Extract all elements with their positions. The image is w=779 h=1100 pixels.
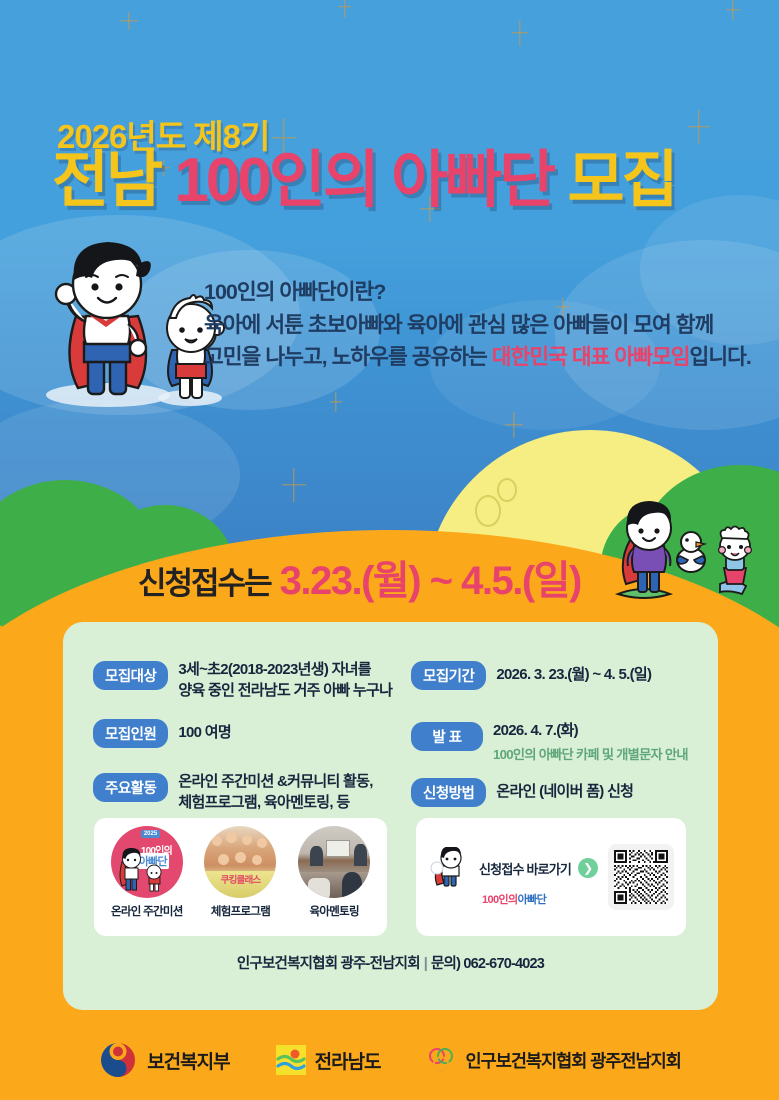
lead-line-3-pre: 고민을 나누고, 노하우를 공유하는 (204, 345, 492, 369)
info-row: 신청방법 온라인 (네이버 폼) 신청 (411, 777, 693, 807)
qr-cta-label: 신청접수 바로가기 (479, 859, 571, 878)
sparkle-icon (688, 110, 710, 144)
announcement-note: 100인의 아빠단 카페 및 개별문자 안내 (493, 746, 688, 764)
thumb-kid-figure (145, 864, 163, 892)
photo-person (257, 838, 267, 848)
info-row: 주요활동 온라인 주간미션 &커뮤니티 활동, 체험프로그램, 육아멘토링, 등 (93, 772, 411, 813)
info-left-column: 모집대상 3세~초2(2018-2023년생) 자녀를 양육 중인 전라남도 거… (93, 660, 411, 831)
title-part-1: 전남 (52, 146, 160, 215)
sparkle-icon (282, 468, 306, 502)
sparkle-icon (512, 20, 528, 46)
contact-inquiry: 문의) 062-670-4023 (431, 956, 544, 972)
photo-person (212, 836, 222, 846)
qr-code[interactable] (608, 844, 674, 910)
date-banner-value: 3.23.(월) ~ 4.5.(일) (280, 548, 581, 606)
logo-ppfk: 인구보건복지협회 광주전남지회 (427, 1045, 681, 1075)
announcement-date: 2026. 4. 7.(화) (493, 722, 578, 739)
lead-line-1: 100인의 아빠단이란? (204, 276, 751, 309)
sparkle-icon (726, 0, 740, 20)
info-text-activities: 온라인 주간미션 &커뮤니티 활동, 체험프로그램, 육아멘토링, 등 (178, 772, 372, 813)
title-part-2: 100인의 아빠단 (174, 146, 553, 215)
thumbnail-item: 2025 100인의 아빠단 (104, 826, 190, 919)
thumbnail-image-parenting-mentoring (298, 826, 370, 898)
photo-whiteboard (326, 840, 350, 857)
logo-label: 인구보건복지협회 광주전남지회 (466, 1048, 681, 1073)
activity-thumbnails: 2025 100인의 아빠단 (94, 818, 387, 936)
thumbnail-caption: 육아멘토링 (291, 903, 377, 919)
photo-person (310, 846, 323, 866)
qr-code-graphic (614, 850, 668, 904)
title-part-3: 모집 (567, 146, 675, 215)
contact-separator: | (424, 956, 427, 972)
lead-line-3: 고민을 나누고, 노하우를 공유하는 대한민국 대표 아빠모임입니다. (204, 341, 751, 374)
info-row: 모집인원 100 여명 (93, 718, 411, 748)
thumbnail-image-experience-program: 쿠킹클래스 (204, 826, 276, 898)
application-date-banner: 신청접수는 3.23.(월) ~ 4.5.(일) (138, 548, 581, 606)
thumb-dad-figure (119, 848, 145, 892)
thumb-year-label: 2025 (141, 830, 160, 838)
photo-person (242, 835, 252, 845)
chevron-right-icon[interactable]: ❯ (578, 858, 598, 878)
jeonnam-icon (276, 1045, 306, 1075)
ppfk-icon (427, 1045, 457, 1075)
logo-label: 보건복지부 (147, 1047, 229, 1074)
taegeuk-icon (98, 1040, 138, 1080)
thumbnail-caption: 체험프로그램 (197, 903, 283, 919)
info-badge-method: 신청방법 (411, 778, 486, 807)
thumbnail-item: 쿠킹클래스 체험프로그램 (197, 826, 283, 919)
info-badge-period: 모집기간 (411, 661, 486, 690)
brand-wordmark-blue: 아빠단 (518, 894, 547, 906)
qr-cta-row[interactable]: 신청접수 바로가기 ❯ (430, 847, 598, 889)
lead-line-3-post: 입니다. (690, 345, 751, 369)
mascot-small-icon (430, 847, 472, 889)
info-text-headcount: 100 여명 (178, 723, 231, 744)
photo-banner-label: 쿠킹클래스 (204, 872, 276, 886)
info-rows-grid: 모집대상 3세~초2(2018-2023년생) 자녀를 양육 중인 전라남도 거… (93, 660, 693, 831)
info-row: 모집기간 2026. 3. 23.(월) ~ 4. 5.(일) (411, 660, 693, 690)
photo-person (235, 852, 246, 863)
info-row: 발 표 2026. 4. 7.(화) 100인의 아빠단 카페 및 개별문자 안… (411, 721, 693, 764)
date-banner-label: 신청접수는 (138, 558, 271, 603)
info-badge-announcement: 발 표 (411, 722, 483, 751)
sparkle-icon (505, 412, 523, 438)
brand-wordmark-red: 100인의 (482, 894, 518, 906)
lead-line-2: 육아에 서툰 초보아빠와 육아에 관심 많은 아빠들이 모여 함께 (204, 309, 751, 342)
photo-person (218, 854, 229, 865)
info-text-period: 2026. 3. 23.(월) ~ 4. 5.(일) (496, 665, 651, 686)
thumbnail-caption: 온라인 주간미션 (104, 903, 190, 919)
contact-org: 인구보건복지협회 광주-전남지회 (237, 956, 420, 972)
moon-crater (497, 478, 517, 502)
sparkle-icon (330, 392, 342, 412)
info-badge-activities: 주요활동 (93, 773, 168, 802)
qr-left-block: 신청접수 바로가기 ❯ 100인의아빠단 (430, 847, 598, 907)
photo-table (308, 878, 330, 898)
contact-line: 인구보건복지협회 광주-전남지회|문의) 062-670-4023 (63, 952, 718, 973)
info-badge-target: 모집대상 (93, 661, 168, 690)
lead-paragraph: 100인의 아빠단이란? 육아에 서툰 초보아빠와 육아에 관심 많은 아빠들이… (204, 276, 751, 374)
info-right-column: 모집기간 2026. 3. 23.(월) ~ 4. 5.(일) 발 표 2026… (411, 660, 693, 831)
logo-jeonnam: 전라남도 (276, 1045, 381, 1075)
info-badge-headcount: 모집인원 (93, 719, 168, 748)
photo-person (342, 872, 362, 898)
moon-crater (475, 495, 501, 527)
photo-person (354, 844, 367, 866)
info-row: 모집대상 3세~초2(2018-2023년생) 자녀를 양육 중인 전라남도 거… (93, 660, 411, 701)
info-text-announcement: 2026. 4. 7.(화) 100인의 아빠단 카페 및 개별문자 안내 (493, 721, 688, 764)
thumbnail-item: 육아멘토링 (291, 826, 377, 919)
poster-root: 2026년도 제8기 전남 100인의 아빠단 모집 (0, 0, 779, 1100)
qr-apply-panel[interactable]: 신청접수 바로가기 ❯ 100인의아빠단 (416, 818, 686, 936)
sparkle-icon (338, 0, 351, 18)
footer-logo-row: 보건복지부 전라남도 인구보건복지협회 광주전남지회 (0, 1028, 779, 1092)
logo-label: 전라남도 (315, 1047, 381, 1074)
hill-characters-illustration (608, 498, 768, 608)
thumbnail-image-weekly-mission: 2025 100인의 아빠단 (111, 826, 183, 898)
info-text-target: 3세~초2(2018-2023년생) 자녀를 양육 중인 전라남도 거주 아빠 … (178, 660, 392, 701)
brand-wordmark: 100인의아빠단 (482, 891, 546, 907)
lead-highlight: 대한민국 대표 아빠모임 (492, 345, 690, 369)
info-card: 모집대상 3세~초2(2018-2023년생) 자녀를 양육 중인 전라남도 거… (63, 622, 718, 1010)
poster-title: 전남 100인의 아빠단 모집 (52, 150, 676, 212)
info-text-method: 온라인 (네이버 폼) 신청 (496, 782, 633, 803)
photo-person (226, 832, 237, 843)
logo-mohw: 보건복지부 (98, 1040, 229, 1080)
sparkle-icon (120, 12, 138, 30)
photo-person (252, 855, 262, 865)
